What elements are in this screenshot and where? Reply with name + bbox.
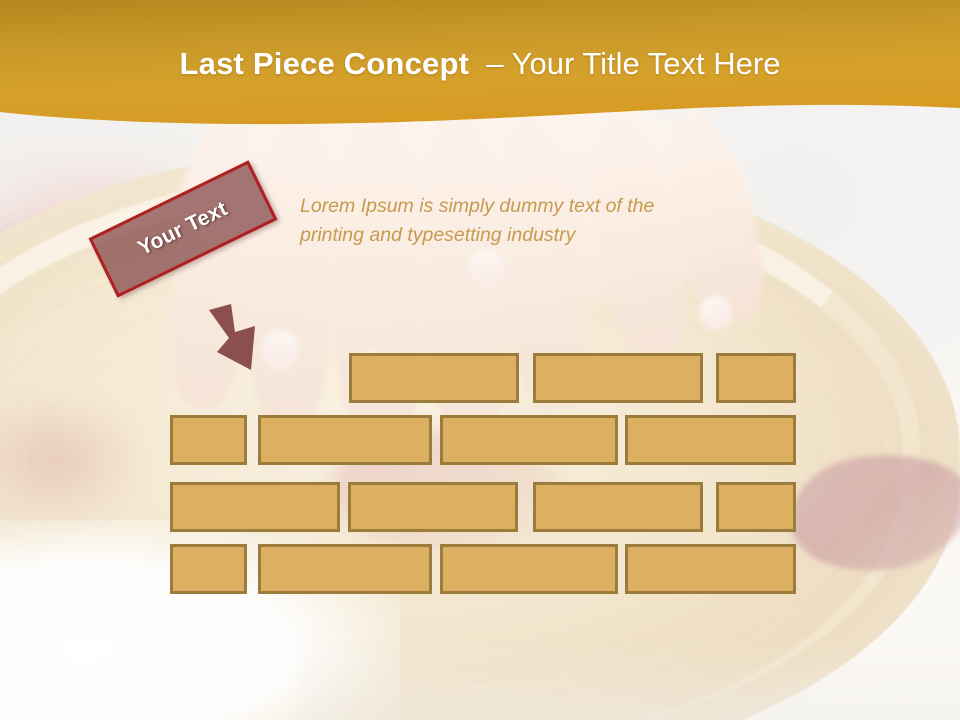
brick-r1-c2[interactable] [533,353,703,403]
brick-r3-c3[interactable] [533,482,703,532]
brick-r1-c3[interactable] [716,353,796,403]
brick-r2-c3[interactable] [440,415,618,465]
brick-r4-c4[interactable] [625,544,796,594]
brick-r2-c2[interactable] [258,415,432,465]
brick-r2-c1[interactable] [170,415,247,465]
brick-r2-c4[interactable] [625,415,796,465]
brick-r4-c3[interactable] [440,544,618,594]
brick-r4-c2[interactable] [258,544,432,594]
brick-r1-c1[interactable] [349,353,519,403]
brick-r3-c1[interactable] [170,482,340,532]
brick-wall [0,0,960,720]
brick-r3-c2[interactable] [348,482,518,532]
brick-r3-c4[interactable] [716,482,796,532]
slide-canvas: Last Piece Concept – Your Title Text Her… [0,0,960,720]
brick-r4-c1[interactable] [170,544,247,594]
